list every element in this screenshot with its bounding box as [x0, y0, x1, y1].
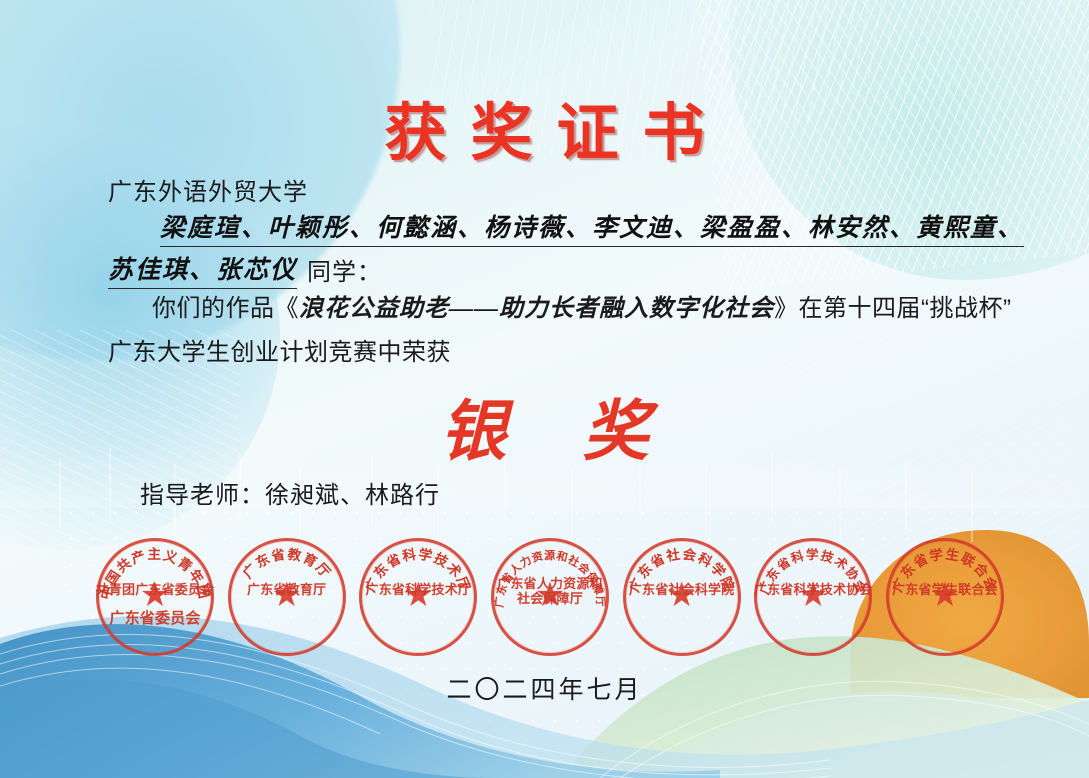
organization-name: 广东外语外贸大学 — [108, 172, 308, 207]
page-title: 获奖证书 — [0, 82, 1089, 172]
official-seal: 广东省人力资源和社会保障厅 ★ 广东省人力资源和 社会保障厅 — [491, 538, 609, 656]
seal-label: 广东省科学技术厅 — [345, 582, 491, 597]
seal-label: 广东省社会科学院 — [609, 582, 755, 597]
official-seal: 广东省社会科学院 ★ 广东省社会科学院 — [623, 538, 741, 656]
award-level: 银 奖 — [0, 378, 1089, 474]
seal-label: 共青团广东省委员会 — [82, 582, 228, 597]
body-text-line-2: 广东大学生创业计划竞赛中荣获 — [108, 332, 451, 367]
official-seal: 广东省科学技术协会 ★ 广东省科学技术协会 — [754, 538, 872, 656]
seal-label: 广东省学生联合会 — [872, 582, 1018, 597]
official-seal: 广东省科学技术厅 ★ 广东省科学技术厅 — [359, 538, 477, 656]
certificate-content: 获奖证书 广东外语外贸大学 梁庭瑄、叶颖彤、何懿涵、杨诗薇、李文迪、梁盈盈、林安… — [0, 0, 1089, 778]
official-seal: 广东省学生联合会 ★ 广东省学生联合会 — [886, 538, 1004, 656]
student-names-line-1: 梁庭瑄、叶颖彤、何懿涵、杨诗薇、李文迪、梁盈盈、林安然、黄熙童、 — [160, 208, 1024, 247]
seal-row: 中国共产主义青年团 ★ 共青团广东省委员会 广东省委员会 广东省教育厅 ★ 广东… — [96, 538, 1004, 662]
student-names-row-2: 苏佳琪、张芯仪 同学： — [108, 250, 382, 289]
advisor-line: 指导老师：徐昶斌、林路行 — [140, 475, 440, 510]
advisor-names: 徐昶斌、林路行 — [265, 482, 440, 509]
salutation-text: 同学： — [307, 252, 382, 289]
certificate-page: 获奖证书 广东外语外贸大学 梁庭瑄、叶颖彤、何懿涵、杨诗薇、李文迪、梁盈盈、林安… — [0, 0, 1089, 778]
issue-date: 二〇二四年七月 — [0, 670, 1089, 706]
seal-label: 广东省人力资源和 社会保障厅 — [477, 576, 623, 606]
student-names-line-2: 苏佳琪、张芯仪 — [108, 250, 297, 289]
seal-sub-label: 广东省委员会 — [82, 612, 228, 627]
body-text-line-1: 你们的作品《浪花公益助老——助力长者融入数字化社会》在第十四届“挑战杯” — [152, 288, 1011, 323]
seal-label: 广东省教育厅 — [214, 582, 360, 597]
official-seal: 广东省教育厅 ★ 广东省教育厅 — [228, 538, 346, 656]
advisor-label: 指导老师： — [140, 482, 265, 509]
work-title: 浪花公益助老——助力长者融入数字化社会 — [299, 296, 774, 322]
official-seal: 中国共产主义青年团 ★ 共青团广东省委员会 广东省委员会 — [96, 538, 214, 656]
body-prefix: 你们的作品《 — [152, 295, 299, 322]
seal-label: 广东省科学技术协会 — [740, 582, 886, 597]
body-middle: 》在第十四届“挑战杯” — [774, 295, 1011, 322]
